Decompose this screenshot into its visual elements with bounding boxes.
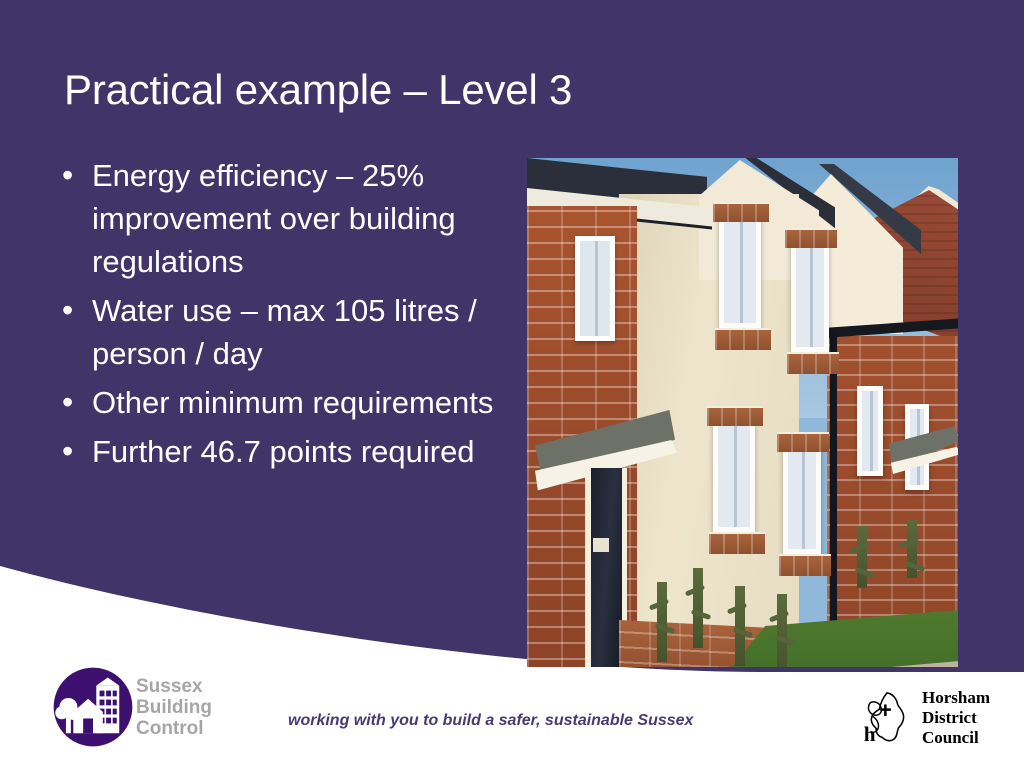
tagline: working with you to build a safer, susta… [288,712,788,730]
logo-line-2: Building [136,697,212,718]
list-item: • Other minimum requirements [56,381,508,424]
bullet-text: Water use – max 105 litres / person / da… [92,289,508,375]
logo-line-3: Control [136,718,204,739]
slide-canvas: Practical example – Level 3 • Energy eff… [0,0,1024,768]
sussex-building-control-logo: Sussex Building Control [52,663,230,751]
photo-window-sill [715,328,771,350]
horsham-district-map-crest-icon: h [858,689,916,747]
photo-shrub [907,520,917,578]
bullet-marker-icon: • [56,430,92,473]
photo-window [719,216,761,328]
list-item: • Further 46.7 points required [56,430,508,473]
list-item: • Energy efficiency – 25% improvement ov… [56,154,508,283]
photo-shrub [657,582,667,662]
photo-window-sill [785,228,837,248]
photo-window-sill [707,406,763,426]
sussex-building-control-wordmark: Sussex Building Control [136,676,230,739]
list-item: • Water use – max 105 litres / person / … [56,289,508,375]
photo-shrub [857,526,867,588]
photo-window [857,386,883,476]
photo-window [783,446,821,554]
logo-line-2: District [922,708,977,727]
photo-door-plate [593,538,609,552]
photo-shrub [777,594,787,667]
logo-line-1: Horsham [922,688,990,707]
bullet-marker-icon: • [56,154,92,197]
bullet-text: Energy efficiency – 25% improvement over… [92,154,508,283]
horsham-district-council-logo: h Horsham District Council [858,686,1016,750]
bullet-marker-icon: • [56,381,92,424]
logo-line-3: Council [922,728,979,747]
page-title: Practical example – Level 3 [64,66,944,114]
photo-window-sill [787,352,839,374]
horsham-district-council-wordmark: Horsham District Council [922,688,1016,748]
logo-line-1: Sussex [136,676,203,697]
photo-downpipe [830,334,837,624]
photo-window-sill [713,202,769,222]
bullet-text: Other minimum requirements [92,381,508,424]
photo-window [791,242,829,352]
photo-window [713,420,755,532]
photo-shrub [735,586,745,666]
bullet-list: • Energy efficiency – 25% improvement ov… [56,154,508,479]
photo-window-sill [777,432,829,452]
housing-photograph [527,158,958,667]
photo-window-sill [709,532,765,554]
photo-window [575,236,615,341]
bullet-marker-icon: • [56,289,92,332]
svg-text:h: h [864,722,876,746]
bullet-text: Further 46.7 points required [92,430,508,473]
house-building-tree-circle-icon [52,666,134,748]
photo-shrub [693,568,703,648]
photo-window-sill [779,554,831,576]
